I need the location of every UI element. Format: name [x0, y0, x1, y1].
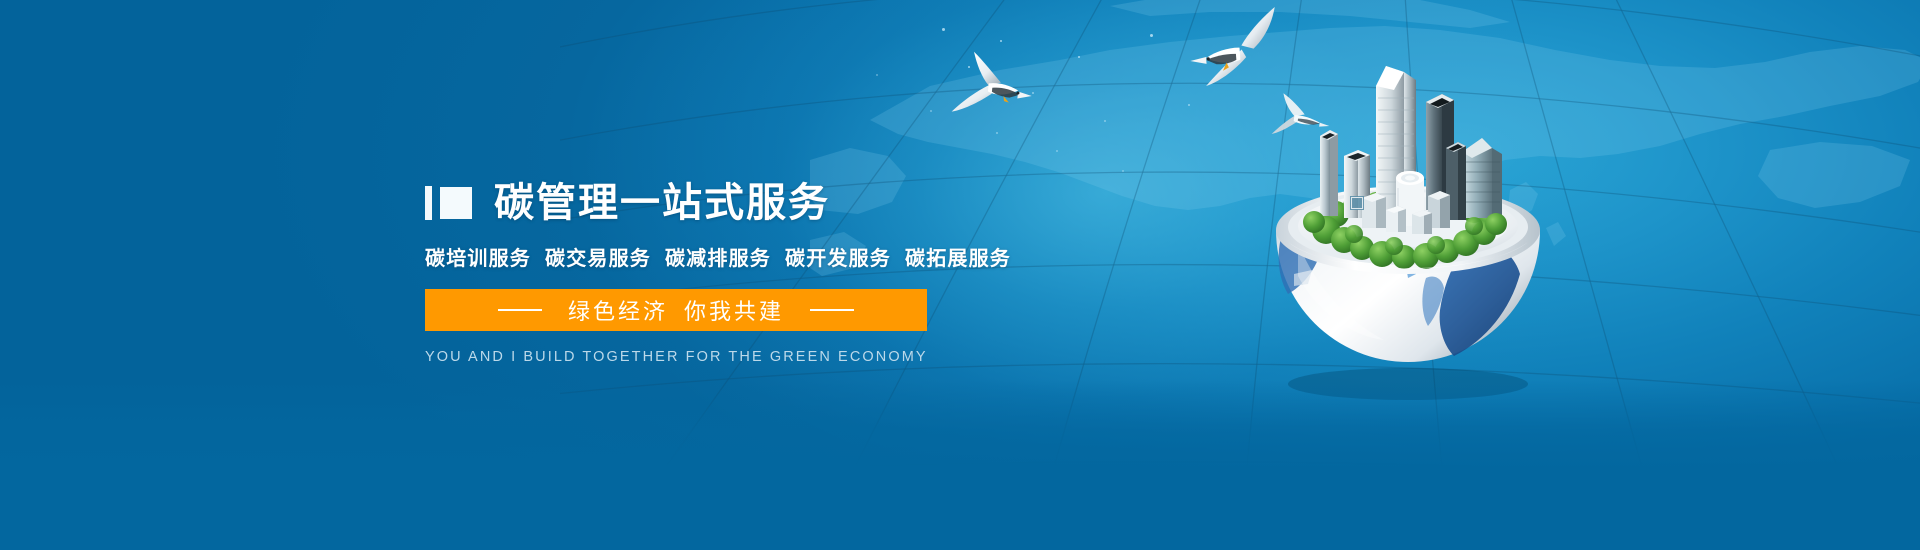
globe-city-artwork [1258, 28, 1558, 418]
slogan-phrase-1: 绿色经济 [568, 299, 668, 324]
background-bottom-fade [0, 380, 1920, 470]
service-item[interactable]: 碳交易服务 [545, 248, 651, 270]
english-tagline: YOU AND I BUILD TOGETHER FOR THE GREEN E… [425, 349, 927, 365]
service-item[interactable]: 碳拓展服务 [905, 248, 1011, 270]
page-title: 碳管理一站式服务 [494, 183, 830, 223]
slogan-bar: 绿色经济你我共建 [425, 289, 927, 331]
right-rule-icon [810, 309, 854, 311]
service-list: 碳培训服务碳交易服务碳减排服务碳开发服务碳拓展服务 [425, 242, 1125, 271]
service-item[interactable]: 碳培训服务 [425, 248, 531, 270]
carbon-management-banner: 碳管理一站式服务 碳培训服务碳交易服务碳减排服务碳开发服务碳拓展服务 绿色经济你… [0, 0, 1920, 550]
service-item[interactable]: 碳减排服务 [665, 248, 771, 270]
bar-square-mark-icon [425, 186, 472, 220]
banner-content: 碳管理一站式服务 碳培训服务碳交易服务碳减排服务碳开发服务碳拓展服务 绿色经济你… [425, 180, 1125, 365]
background-bottom-band [0, 466, 1920, 550]
left-rule-icon [498, 309, 542, 311]
banner-heading: 碳管理一站式服务 [425, 180, 1125, 226]
slogan-text: 绿色经济你我共建 [568, 294, 784, 326]
service-item[interactable]: 碳开发服务 [785, 248, 891, 270]
slogan-phrase-2: 你我共建 [684, 299, 784, 324]
